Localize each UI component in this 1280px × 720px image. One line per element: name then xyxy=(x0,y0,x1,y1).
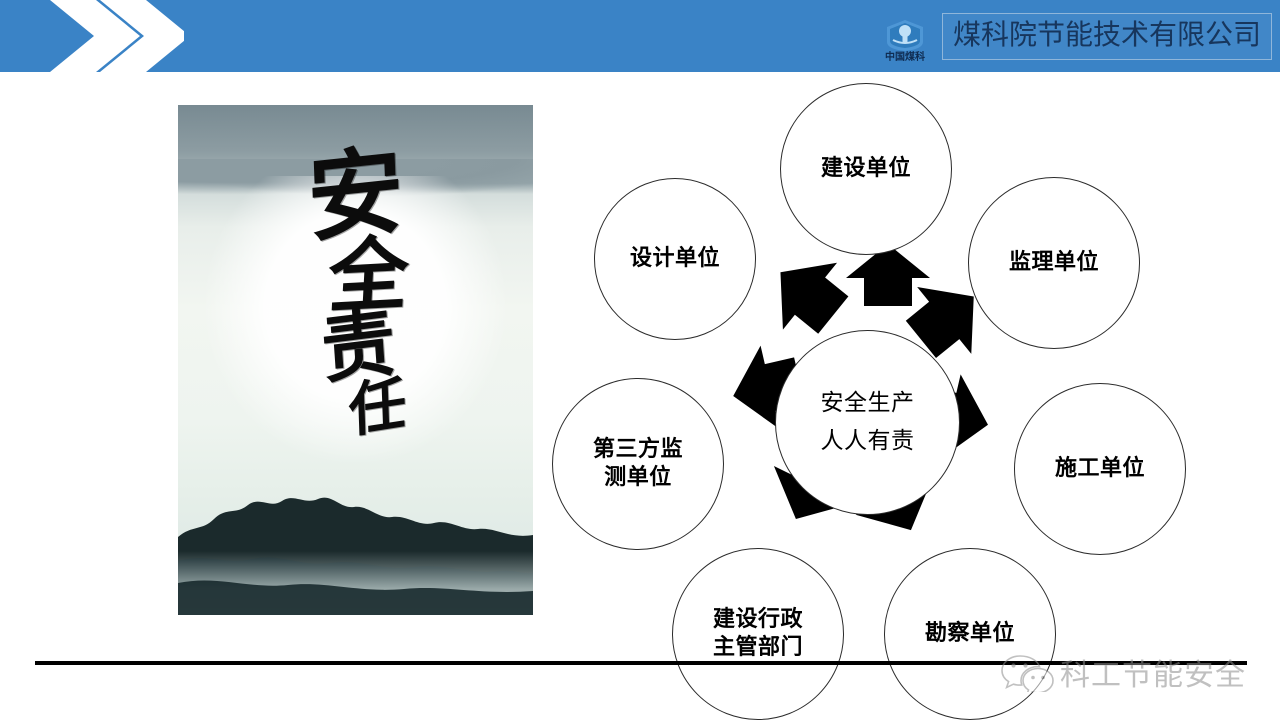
company-title-box: 煤科院节能技术有限公司 xyxy=(942,13,1272,60)
company-logo-caption: 中国煤科 xyxy=(885,52,925,64)
diagram-center-node[interactable]: 安全生产人人有责 xyxy=(775,330,960,515)
double-chevron-right-icon xyxy=(44,0,184,72)
diagram-node-label: 建设单位 xyxy=(821,155,911,183)
company-logo: 中国煤科 xyxy=(876,8,934,64)
diagram-node-label: 施工单位 xyxy=(1055,455,1145,483)
diagram-node-third-party-monitor[interactable]: 第三方监 测单位 xyxy=(552,378,724,550)
diagram-center-label: 安全生产人人有责 xyxy=(821,385,915,460)
center-line-1: 安全生产 xyxy=(821,390,915,416)
watermark-text: 科工节能安全 xyxy=(1060,650,1246,694)
responsibility-diagram: 安全生产人人有责 建设单位 监理单位 施工单位 勘察单位 建设行政 主管部门 第… xyxy=(540,78,1240,720)
diagram-node-design-unit[interactable]: 设计单位 xyxy=(594,178,756,340)
diagram-node-label: 建设行政 主管部门 xyxy=(713,606,803,662)
poster-calligraphy: 安 全 责 任 xyxy=(178,151,533,434)
brand-block: 中国煤科 煤科院节能技术有限公司 xyxy=(876,0,1272,72)
diagram-node-administrative-authority[interactable]: 建设行政 主管部门 xyxy=(672,548,844,720)
diagram-node-label: 设计单位 xyxy=(630,245,720,273)
company-title: 煤科院节能技术有限公司 xyxy=(953,17,1261,53)
wechat-icon xyxy=(1000,652,1054,692)
diagram-node-construction-owner[interactable]: 建设单位 xyxy=(780,83,952,255)
wechat-watermark: 科工节能安全 xyxy=(1000,636,1268,708)
diagram-node-label: 第三方监 测单位 xyxy=(593,436,683,492)
diagram-node-supervision-unit[interactable]: 监理单位 xyxy=(968,177,1140,349)
center-line-2: 人人有责 xyxy=(821,428,915,454)
diagram-node-construction-contractor[interactable]: 施工单位 xyxy=(1014,383,1186,555)
diagram-node-label: 监理单位 xyxy=(1009,249,1099,277)
safety-responsibility-poster: 安 全 责 任 落 重 实 在 xyxy=(178,105,533,615)
header-bar: 中国煤科 煤科院节能技术有限公司 xyxy=(0,0,1280,72)
ink-wash-mountains xyxy=(178,465,533,615)
china-coal-emblem-logo-icon xyxy=(882,18,928,52)
